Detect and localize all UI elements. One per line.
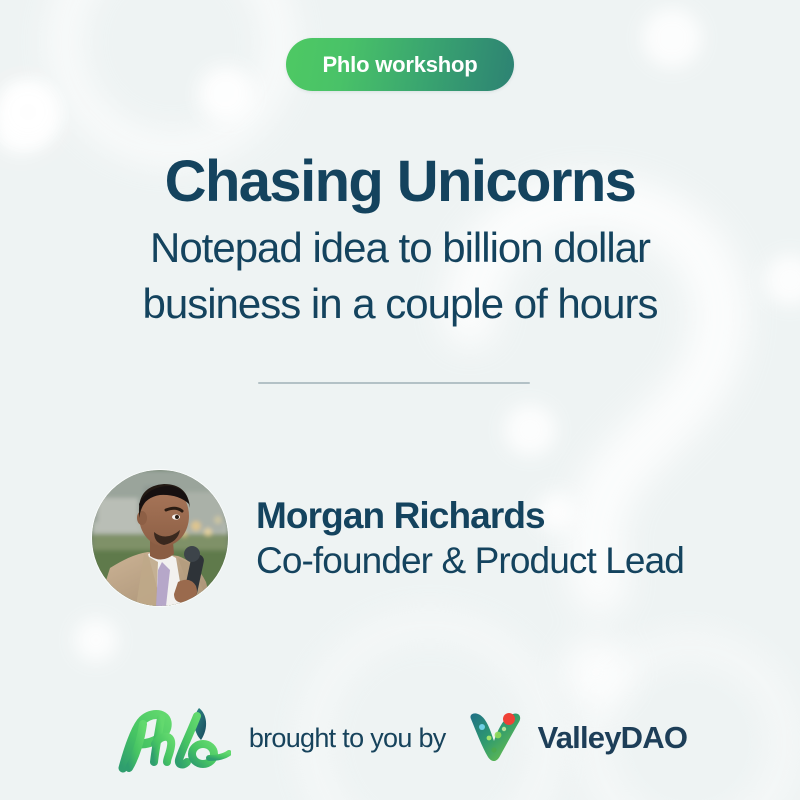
background-decoration	[0, 0, 800, 800]
badge-container: Phlo workshop	[0, 38, 800, 91]
valleydao-logo-icon[interactable]	[464, 707, 526, 769]
brought-to-you-by-label: brought to you by	[249, 723, 446, 754]
page-subtitle: Notepad idea to billion dollar business …	[0, 220, 800, 332]
footer: brought to you by ValleyDAO	[0, 700, 800, 776]
phlo-logo-icon[interactable]	[113, 702, 231, 774]
speaker-block: Morgan Richards Co-founder & Product Lea…	[92, 470, 684, 606]
speaker-text: Morgan Richards Co-founder & Product Lea…	[256, 495, 684, 582]
speaker-name: Morgan Richards	[256, 495, 684, 536]
page-title: Chasing Unicorns	[0, 152, 800, 212]
headline-block: Chasing Unicorns Notepad idea to billion…	[0, 152, 800, 331]
avatar	[92, 470, 228, 606]
workshop-badge[interactable]: Phlo workshop	[286, 38, 513, 91]
section-divider	[258, 382, 530, 384]
subtitle-line-1: Notepad idea to billion dollar	[0, 220, 800, 276]
valleydao-wordmark: ValleyDAO	[538, 720, 688, 756]
speaker-role: Co-founder & Product Lead	[256, 540, 684, 581]
subtitle-line-2: business in a couple of hours	[0, 276, 800, 332]
event-promo-card: Phlo workshop Chasing Unicorns Notepad i…	[0, 0, 800, 800]
